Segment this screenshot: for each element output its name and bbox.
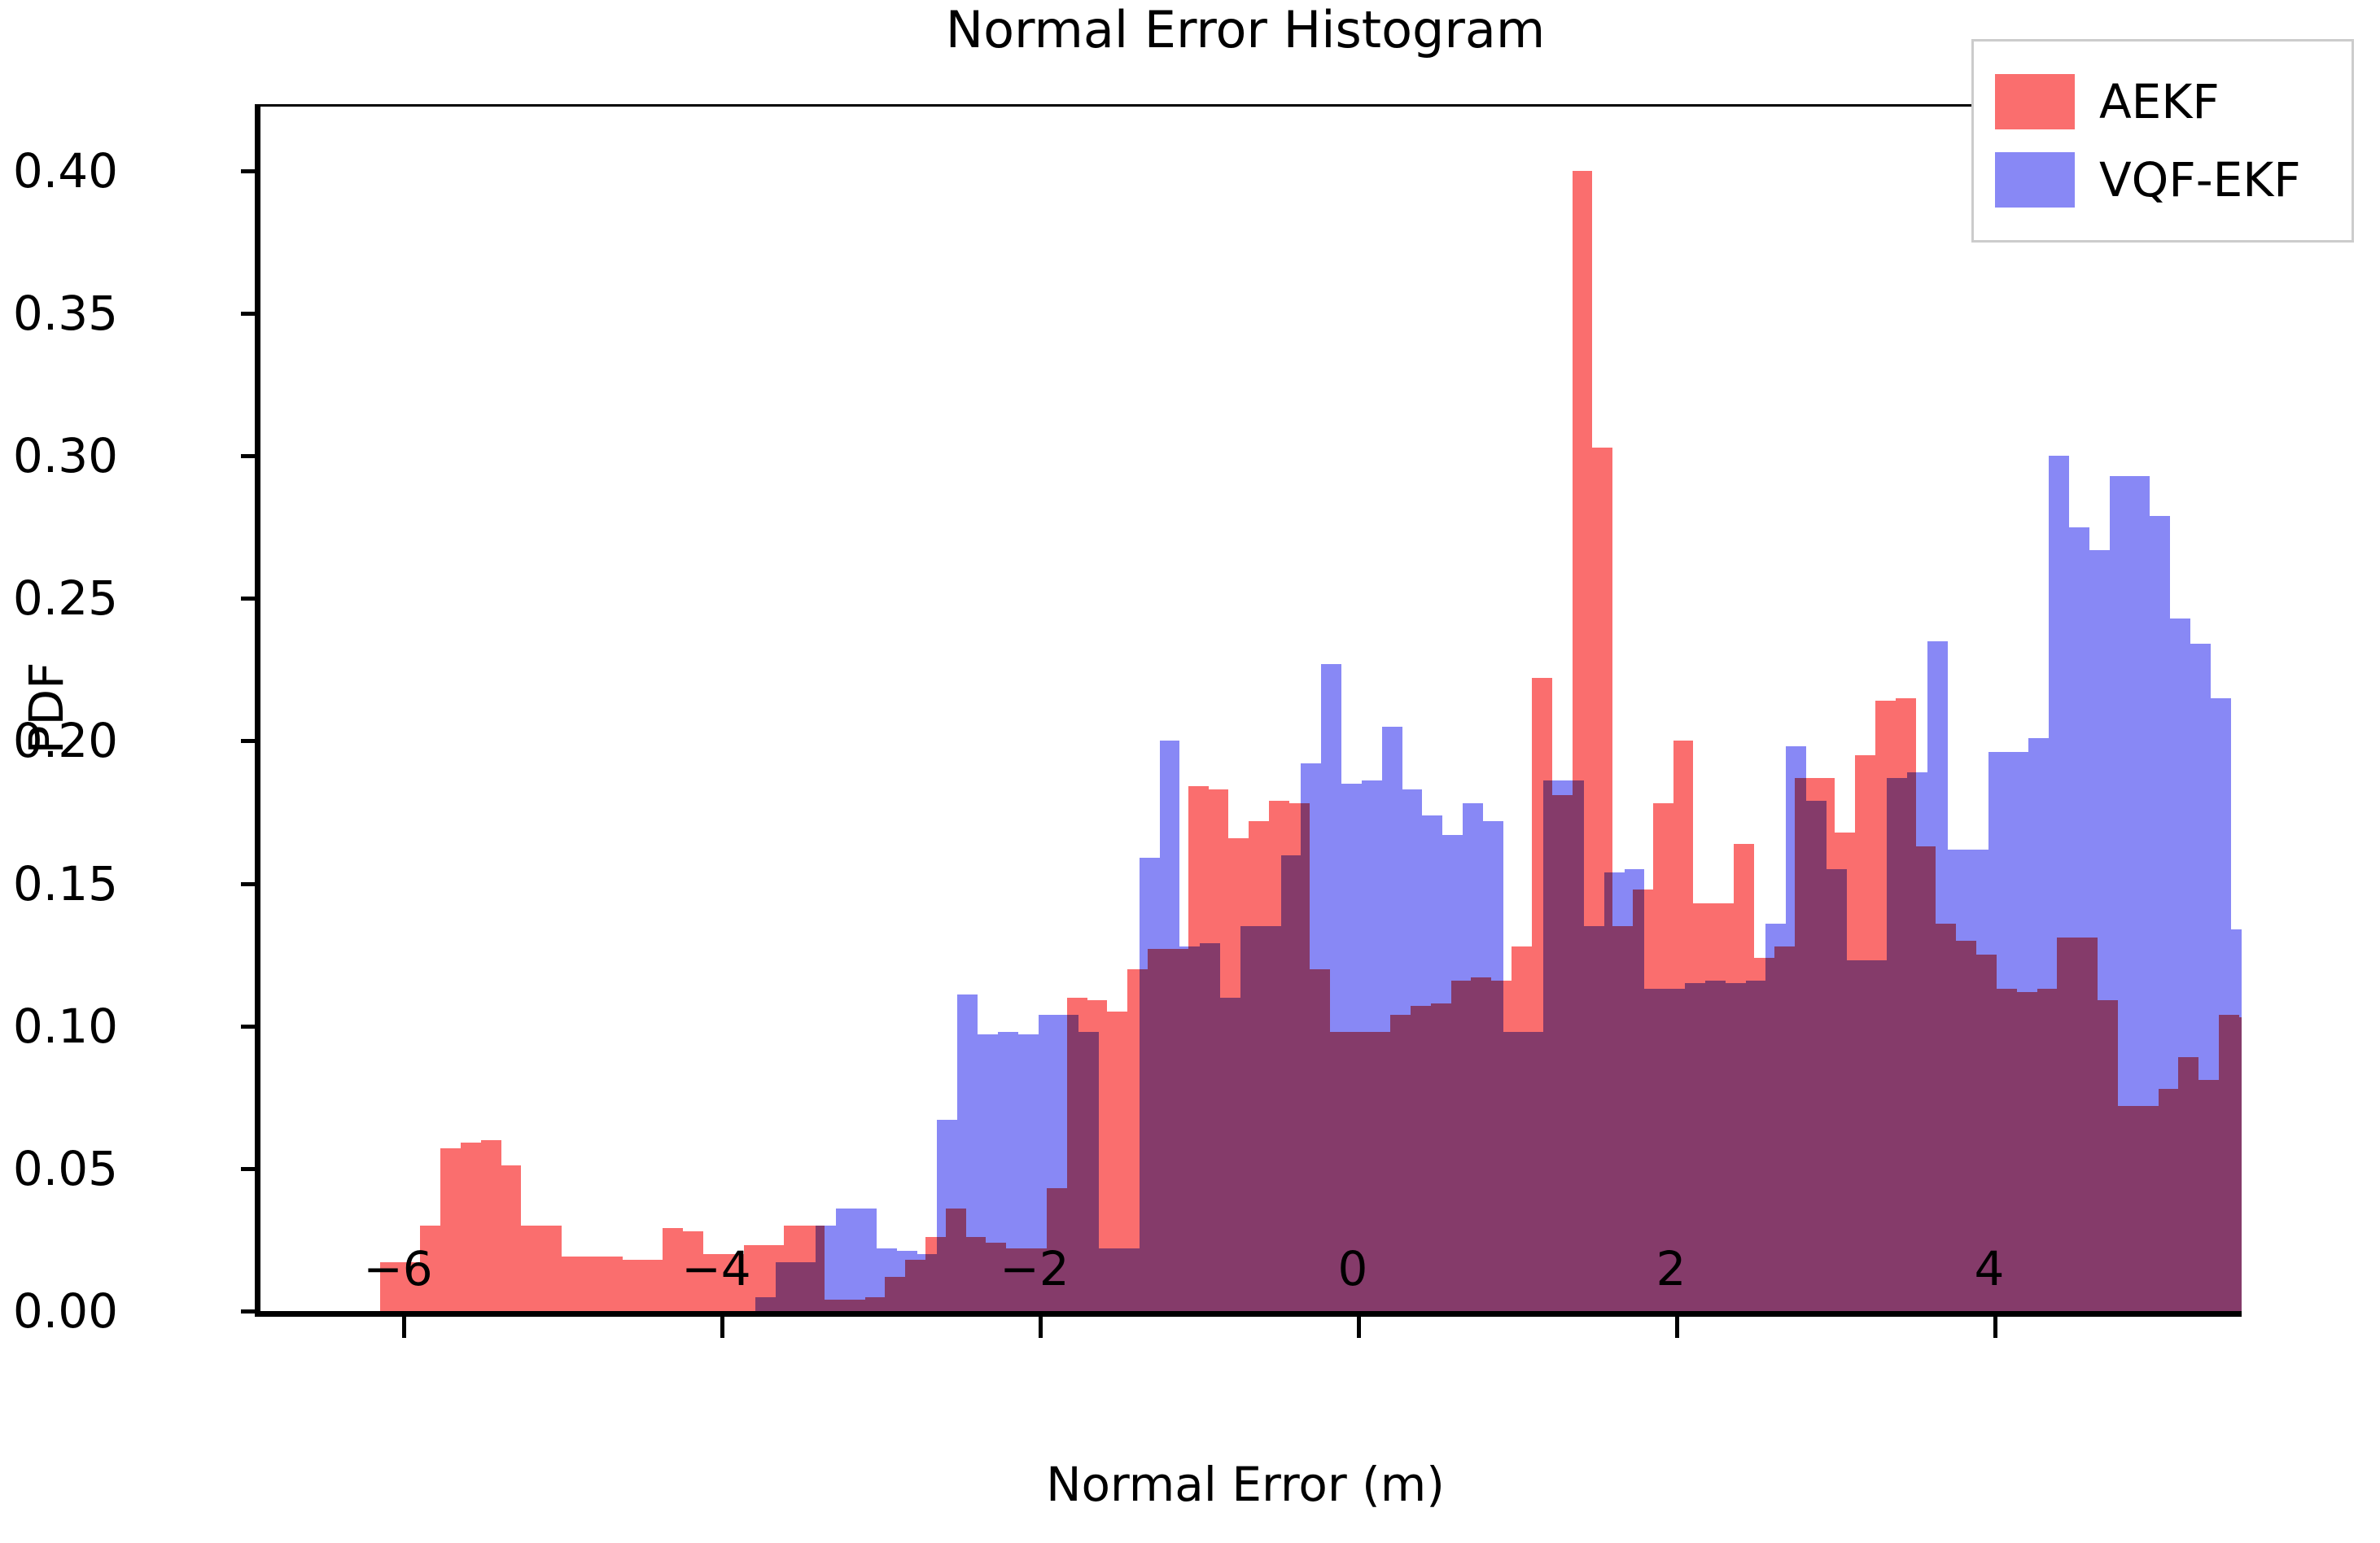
histogram-bar: [1765, 924, 1786, 1311]
y-tick-label: 0.30: [13, 428, 118, 483]
histogram-bar: [623, 1260, 643, 1311]
histogram-bar: [796, 1262, 816, 1311]
y-tick-label: 0.00: [13, 1283, 118, 1339]
histogram-bar: [481, 1140, 501, 1311]
histogram-bar: [755, 1297, 776, 1312]
legend-item-vqf-ekf[interactable]: VQF-EKF: [1995, 141, 2335, 219]
histogram-bar: [957, 994, 978, 1311]
histogram-bar: [1746, 981, 1766, 1311]
histogram-bar: [1179, 946, 1200, 1311]
histogram-bar: [978, 1034, 998, 1311]
histogram-bar: [1948, 850, 1968, 1311]
histogram-bar: [1362, 780, 1382, 1311]
histogram-bar: [1463, 803, 1483, 1311]
histogram-bar: [1625, 869, 1645, 1311]
y-axis-label: PDF: [19, 602, 74, 814]
histogram-bar: [877, 1248, 897, 1311]
x-tick-label: 4: [1975, 1241, 2005, 1296]
x-tick-label: 2: [1656, 1241, 1687, 1296]
histogram-bar: [1281, 855, 1302, 1311]
y-tick-label: 0.35: [13, 286, 118, 341]
x-tick-label: 0: [1338, 1241, 1368, 1296]
y-tick-label: 0.05: [13, 1141, 118, 1196]
x-axis-label: Normal Error (m): [255, 1457, 2236, 1512]
histogram-bar: [1887, 778, 1907, 1311]
x-tick-label: −4: [681, 1241, 751, 1296]
histogram-bar: [2129, 476, 2150, 1311]
x-tick-mark: [1993, 1317, 1997, 1338]
histogram-bar: [2190, 644, 2211, 1311]
legend-swatch-aekf: [1995, 74, 2075, 129]
histogram-bar: [1827, 869, 1847, 1311]
histogram-bar: [582, 1257, 602, 1311]
histogram-bar: [897, 1251, 917, 1311]
histogram-bar: [1382, 727, 1402, 1311]
y-tick-mark: [241, 454, 260, 458]
normal-error-histogram-figure: Normal Error Histogram 0.000.050.100.150…: [0, 0, 2380, 1543]
histogram-bar: [501, 1165, 522, 1311]
legend-swatch-vqf-ekf: [1995, 152, 2075, 208]
histogram-bar: [2150, 516, 2170, 1311]
histogram-bar: [1200, 943, 1220, 1311]
histogram-bar: [917, 1254, 938, 1311]
histogram-bar: [1927, 641, 1948, 1311]
histogram-bar: [2028, 738, 2049, 1311]
histogram-bar: [521, 1226, 541, 1311]
x-tick-mark: [1675, 1317, 1679, 1338]
y-tick-mark: [241, 882, 260, 886]
histogram-bar: [663, 1228, 683, 1311]
histogram-bar: [1685, 983, 1705, 1311]
y-tick-mark: [241, 597, 260, 601]
histogram-bar: [1099, 1248, 1119, 1311]
legend: AEKF VQF-EKF: [1971, 39, 2354, 243]
histogram-bar: [1160, 741, 1180, 1311]
x-tick-mark: [1357, 1317, 1361, 1338]
histogram-bar: [2008, 752, 2028, 1311]
x-tick-mark: [720, 1317, 724, 1338]
y-tick-label: 0.10: [13, 999, 118, 1054]
histogram-bar: [1119, 1248, 1140, 1311]
histogram-bar: [776, 1262, 796, 1311]
histogram-bar: [836, 1209, 856, 1311]
histogram-bar: [1726, 983, 1746, 1311]
histogram-bar: [856, 1209, 877, 1311]
x-tick-mark: [1039, 1317, 1043, 1338]
histogram-bar: [1524, 1032, 1544, 1311]
histogram-bar: [1604, 872, 1625, 1311]
histogram-bar: [1907, 772, 1927, 1311]
y-tick-label: 0.15: [13, 856, 118, 911]
histogram-bar: [602, 1257, 623, 1311]
histogram-bar: [1341, 784, 1362, 1311]
legend-label-vqf-ekf: VQF-EKF: [2099, 152, 2301, 208]
histogram-bar: [440, 1148, 461, 1311]
histogram-bar: [1867, 960, 1888, 1311]
histogram-bar: [1988, 752, 2009, 1311]
y-tick-mark: [241, 169, 260, 173]
x-tick-label: −6: [363, 1241, 433, 1296]
histogram-bar: [1321, 664, 1341, 1311]
histogram-bar: [1240, 926, 1261, 1311]
y-tick-mark: [241, 312, 260, 316]
histogram-bar: [461, 1143, 481, 1311]
legend-label-aekf: AEKF: [2099, 74, 2220, 129]
histogram-bar: [2110, 476, 2130, 1311]
histogram-bar: [1847, 960, 1867, 1311]
histogram-bar: [562, 1257, 582, 1311]
histogram-bar: [816, 1226, 836, 1311]
histogram-bar: [1078, 1032, 1099, 1311]
histogram-bar: [642, 1260, 663, 1311]
plot-area: [255, 107, 2242, 1317]
histogram-bar: [1402, 789, 1423, 1311]
histogram-bar: [1503, 1032, 1524, 1311]
histogram-bar: [2089, 550, 2110, 1311]
histogram-bar: [1301, 763, 1321, 1311]
y-tick-mark: [241, 1167, 260, 1171]
histogram-bar: [1261, 926, 1281, 1311]
histogram-bar: [2211, 698, 2231, 1311]
histogram-bar: [1806, 801, 1827, 1311]
histogram-bar: [1140, 858, 1160, 1311]
histogram-bar: [1483, 821, 1503, 1312]
histogram-bar: [1584, 926, 1604, 1311]
x-tick-label: −2: [1000, 1241, 1070, 1296]
legend-item-aekf[interactable]: AEKF: [1995, 63, 2335, 141]
histogram-bar: [1442, 835, 1463, 1311]
y-tick-mark: [241, 739, 260, 743]
histogram-bar: [2231, 929, 2242, 1311]
x-tick-mark: [402, 1317, 406, 1338]
y-tick-mark: [241, 1309, 260, 1314]
histogram-bar: [937, 1120, 957, 1311]
histogram-bar: [1422, 815, 1442, 1312]
histogram-bar: [2069, 527, 2089, 1311]
histogram-bar: [1786, 746, 1806, 1311]
histogram-bar: [1220, 998, 1240, 1311]
histogram-bar: [541, 1226, 562, 1311]
histogram-bar: [1543, 780, 1564, 1311]
y-tick-mark: [241, 1025, 260, 1029]
histogram-bar: [2170, 619, 2190, 1311]
histogram-bar: [1705, 981, 1726, 1311]
histogram-bar: [1564, 780, 1584, 1311]
histogram-bar: [2049, 456, 2069, 1311]
chart-title: Normal Error Histogram: [255, 3, 2236, 56]
histogram-bars-layer: [260, 107, 2242, 1311]
y-tick-label: 0.40: [13, 143, 118, 199]
